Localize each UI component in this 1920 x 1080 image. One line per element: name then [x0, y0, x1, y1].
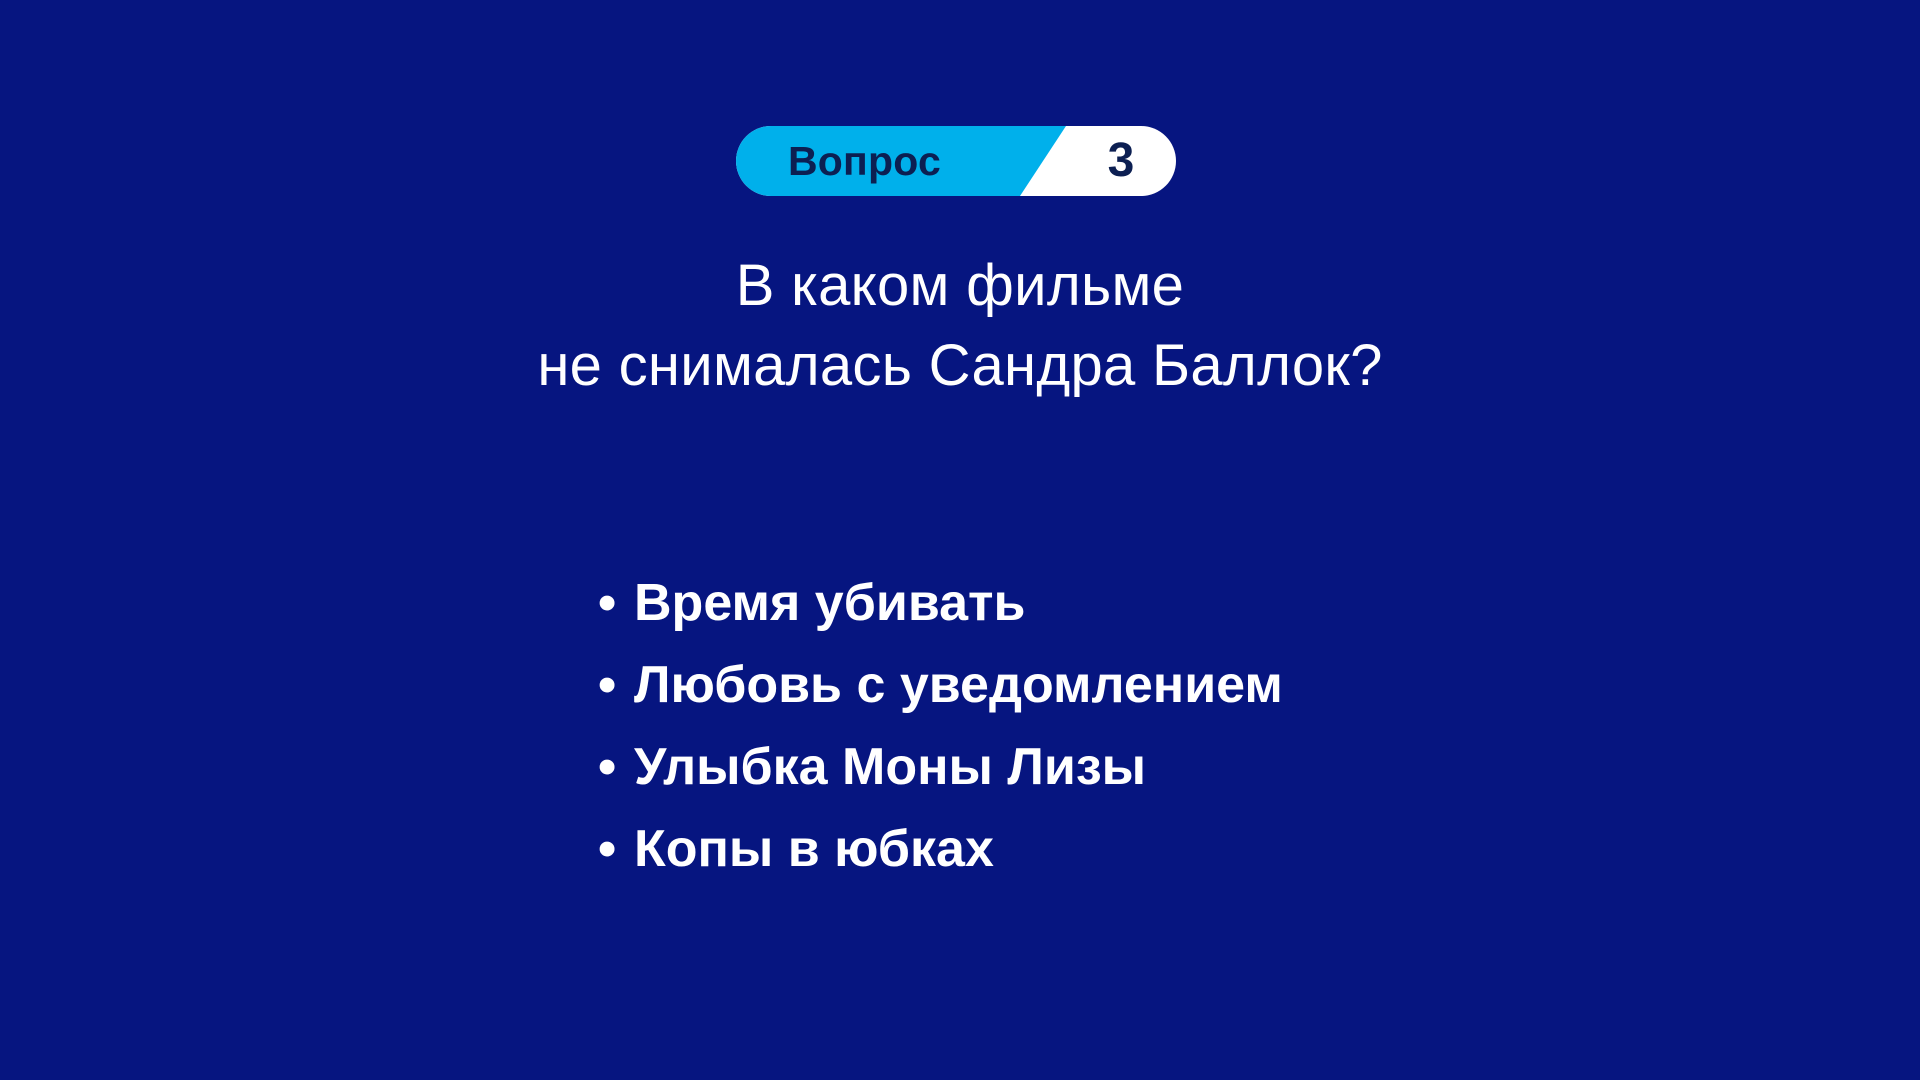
question-number-badge: Вопрос 3: [736, 126, 1176, 196]
answer-option[interactable]: • Время убивать: [598, 562, 1283, 644]
bullet-icon: •: [598, 562, 634, 644]
answer-option-label: Копы в юбках: [634, 808, 994, 890]
bullet-icon: •: [598, 726, 634, 808]
question-text: В каком фильме не снималась Сандра Балло…: [0, 246, 1920, 406]
answer-option[interactable]: • Копы в юбках: [598, 808, 1283, 890]
answer-option[interactable]: • Улыбка Моны Лизы: [598, 726, 1283, 808]
bullet-icon: •: [598, 808, 634, 890]
question-line-1: В каком фильме: [0, 246, 1920, 326]
quiz-slide: Вопрос 3 В каком фильме не снималась Сан…: [0, 0, 1920, 1080]
answer-option-label: Время убивать: [634, 562, 1025, 644]
answer-option[interactable]: • Любовь с уведомлением: [598, 644, 1283, 726]
question-line-2: не снималась Сандра Баллок?: [0, 326, 1920, 406]
badge-question-number: 3: [1066, 126, 1176, 196]
badge-question-label: Вопрос: [788, 126, 941, 196]
answer-option-label: Улыбка Моны Лизы: [634, 726, 1146, 808]
bullet-icon: •: [598, 644, 634, 726]
answer-option-label: Любовь с уведомлением: [634, 644, 1283, 726]
answer-options-list: • Время убивать • Любовь с уведомлением …: [598, 562, 1283, 890]
